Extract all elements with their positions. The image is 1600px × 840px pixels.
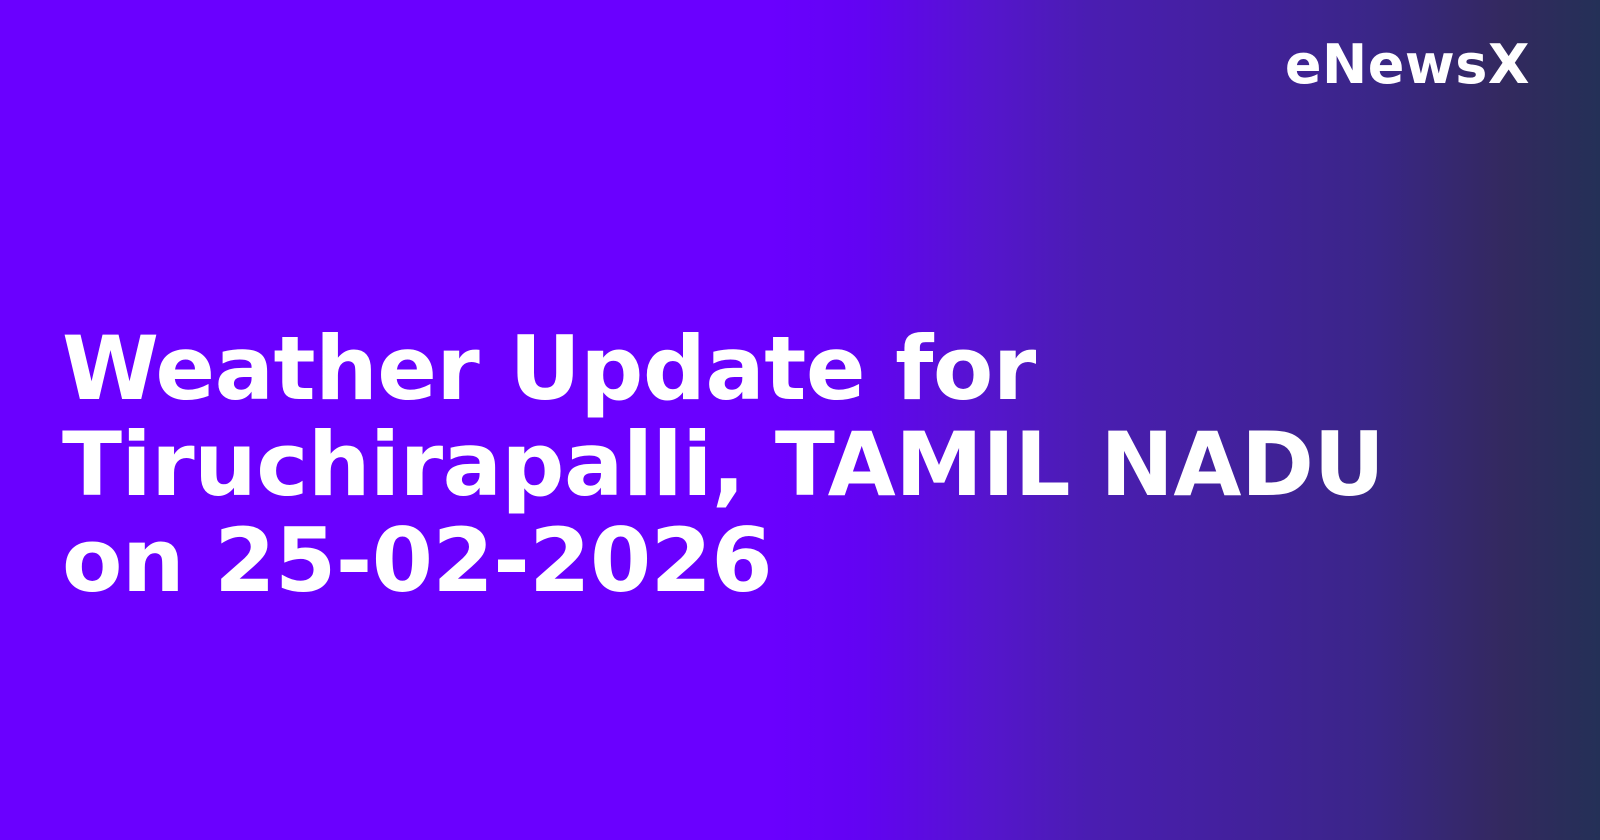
brand-header: eNewsX: [0, 0, 1600, 130]
news-banner: eNewsX Weather Update for Tiruchirapalli…: [0, 0, 1600, 840]
page-title: Weather Update for Tiruchirapalli, TAMIL…: [62, 321, 1492, 609]
enewsx-logo[interactable]: eNewsX: [1285, 38, 1530, 92]
headline-container: Weather Update for Tiruchirapalli, TAMIL…: [0, 130, 1600, 840]
